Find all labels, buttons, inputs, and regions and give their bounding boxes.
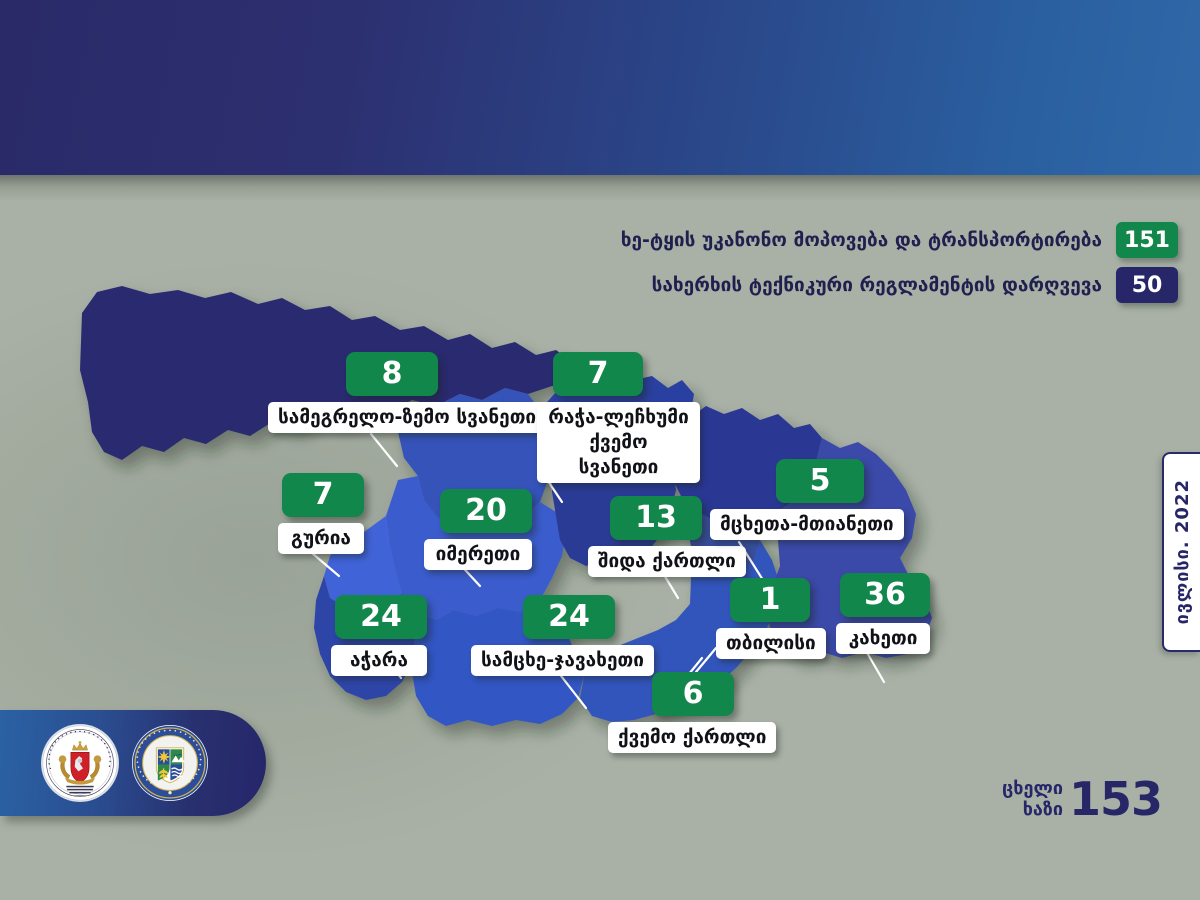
supervision-department-emblem-icon <box>132 725 208 801</box>
marker-mtskheta-mtianeti[interactable]: 5 მცხეთა-მთიანეთი <box>710 459 904 540</box>
logo-bar <box>0 710 266 816</box>
marker-value-kakheti: 36 <box>840 573 930 617</box>
marker-label-kakheti: კახეთი <box>836 623 930 654</box>
marker-value-samtskhe: 24 <box>523 595 615 639</box>
hotline: ცხელი ხაზი 153 <box>1002 776 1162 822</box>
marker-label-guria: გურია <box>278 523 364 554</box>
marker-label-racha: რაჭა-ლეჩხუმი ქვემო სვანეთი <box>537 402 700 483</box>
date-tab-label: ივლისი. 2022 <box>1172 479 1193 624</box>
ministry-of-environmental-protection-and-agriculture-emblem <box>42 725 118 801</box>
marker-kvemo-kartli[interactable]: 6 ქვემო ქართლი <box>608 672 776 753</box>
marker-value-guria: 7 <box>282 473 364 517</box>
marker-label-racha-line2: ქვემო სვანეთი <box>547 430 690 480</box>
date-tab: ივლისი. 2022 <box>1162 452 1200 652</box>
environmental-supervision-department-emblem <box>132 725 208 801</box>
hotline-number: 153 <box>1069 776 1162 822</box>
marker-value-adjara: 24 <box>335 595 427 639</box>
marker-label-kvemo-kartli: ქვემო ქართლი <box>608 722 776 753</box>
marker-adjara[interactable]: 24 აჭარა <box>331 595 427 676</box>
marker-label-tbilisi: თბილისი <box>716 628 826 659</box>
marker-label-mtskheta: მცხეთა-მთიანეთი <box>710 509 904 540</box>
hotline-label-line2: ხაზი <box>1002 799 1063 820</box>
marker-guria[interactable]: 7 გურია <box>278 473 364 554</box>
marker-imereti[interactable]: 20 იმერეთი <box>424 489 532 570</box>
marker-label-samegrelo: სამეგრელო-ზემო სვანეთი <box>268 402 546 433</box>
marker-value-racha: 7 <box>553 352 643 396</box>
marker-samegrelo-zemo-svaneti[interactable]: 8 სამეგრელო-ზემო სვანეთი <box>268 352 546 433</box>
marker-value-shida-kartli: 13 <box>610 496 702 540</box>
marker-value-imereti: 20 <box>440 489 532 533</box>
marker-tbilisi[interactable]: 1 თბილისი <box>716 578 826 659</box>
marker-label-racha-line1: რაჭა-ლეჩხუმი <box>547 405 690 430</box>
marker-label-adjara: აჭარა <box>331 645 427 676</box>
marker-samtskhe-javakheti[interactable]: 24 სამცხე-ჯავახეთი <box>471 595 654 676</box>
marker-racha-lechkhumi[interactable]: 7 რაჭა-ლეჩხუმი ქვემო სვანეთი <box>537 352 700 483</box>
marker-label-shida-kartli: შიდა ქართლი <box>588 546 746 577</box>
infographic-canvas: უკანონო ტყითსარგებლობის 204 ფაქტი გამოვლ… <box>0 0 1200 900</box>
marker-label-imereti: იმერეთი <box>424 539 532 570</box>
hotline-label-line1: ცხელი <box>1002 778 1063 799</box>
ministry-emblem-icon <box>42 725 118 801</box>
leader-samtskhe <box>558 672 586 708</box>
leader-samegrelo <box>371 434 397 466</box>
marker-value-kvemo-kartli: 6 <box>652 672 734 716</box>
marker-value-tbilisi: 1 <box>730 578 810 622</box>
marker-kakheti[interactable]: 36 კახეთი <box>836 573 930 654</box>
hotline-label: ცხელი ხაზი <box>1002 778 1063 820</box>
marker-value-mtskheta: 5 <box>776 459 864 503</box>
marker-value-samegrelo: 8 <box>346 352 438 396</box>
